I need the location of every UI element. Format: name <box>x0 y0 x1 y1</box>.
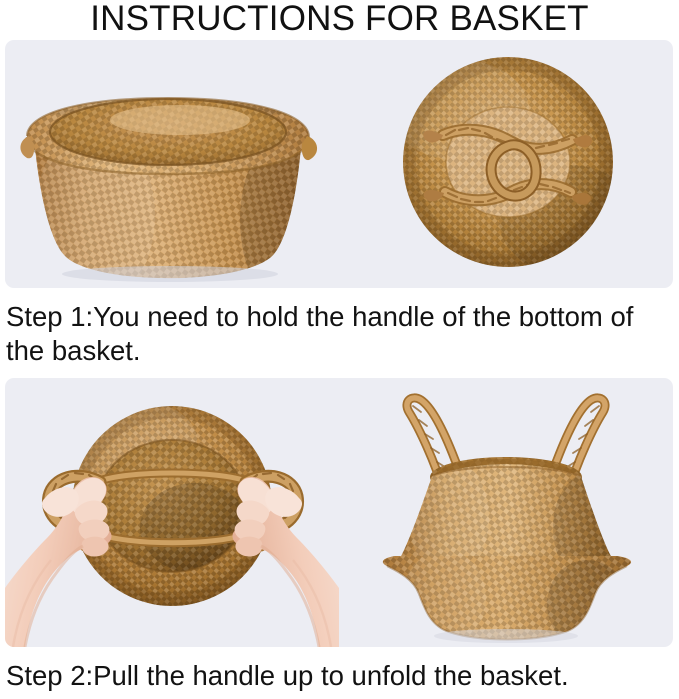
image-hands-holding-handles <box>5 378 339 647</box>
image-basket-unfolded <box>339 378 673 647</box>
drop-shadow <box>434 629 578 643</box>
step-1-image-panel <box>5 40 673 288</box>
drop-shadow <box>62 266 278 282</box>
basket-opening <box>50 99 286 165</box>
basket-bottom-illustration <box>339 40 673 288</box>
page-title: INSTRUCTIONS FOR BASKET <box>0 0 679 38</box>
step-2-image-panel <box>5 378 673 647</box>
image-basket-folded-side <box>5 40 339 288</box>
instruction-sheet: INSTRUCTIONS FOR BASKET <box>0 0 679 699</box>
hands-holding-basket-illustration <box>5 378 339 647</box>
image-basket-bottom-top-view <box>339 40 673 288</box>
basket-folded-side-illustration <box>5 40 339 288</box>
step-2-caption: Step 2:Pull the handle up to unfold the … <box>6 659 674 693</box>
unfolded-basket-illustration <box>339 378 673 647</box>
step-1-caption: Step 1:You need to hold the handle of th… <box>6 300 674 368</box>
